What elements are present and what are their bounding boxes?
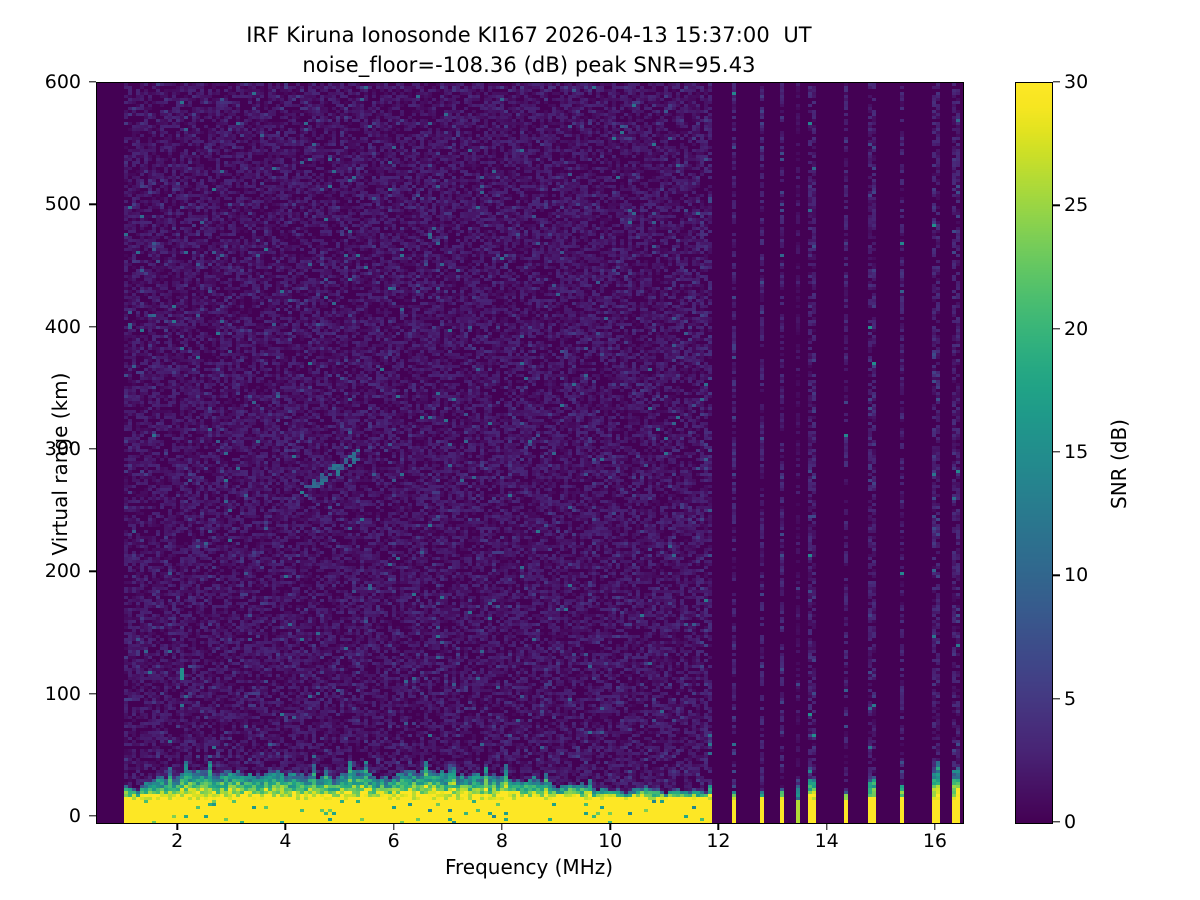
x-tick-label: 2 <box>171 830 183 852</box>
colorbar-tick-mark <box>1053 328 1060 329</box>
y-tick-mark <box>89 326 96 327</box>
y-tick-label: 400 <box>0 316 81 338</box>
x-tick-mark <box>826 823 827 830</box>
colorbar-tick-mark <box>1053 205 1060 206</box>
x-tick-mark <box>609 823 610 830</box>
colorbar-tick-mark <box>1053 821 1060 822</box>
y-tick-label: 200 <box>0 560 81 582</box>
x-tick-mark <box>718 823 719 830</box>
y-tick-mark <box>89 693 96 694</box>
y-tick-label: 600 <box>0 71 81 93</box>
y-tick-mark <box>89 81 96 82</box>
colorbar-tick-label: 30 <box>1064 71 1088 93</box>
x-tick-label: 16 <box>923 830 947 852</box>
x-tick-label: 12 <box>706 830 730 852</box>
colorbar-tick-label: 5 <box>1064 688 1076 710</box>
x-tick-mark <box>285 823 286 830</box>
colorbar-tick-mark <box>1053 575 1060 576</box>
x-axis-label: Frequency (MHz) <box>96 855 962 879</box>
colorbar-tick-mark <box>1053 698 1060 699</box>
colorbar-tick-label: 20 <box>1064 318 1088 340</box>
x-tick-mark <box>176 823 177 830</box>
y-tick-mark <box>89 448 96 449</box>
colorbar-label: SNR (dB) <box>1107 94 1131 834</box>
colorbar-tick-mark <box>1053 451 1060 452</box>
y-tick-label: 300 <box>0 438 81 460</box>
colorbar <box>1015 82 1053 824</box>
colorbar-tick-label: 10 <box>1064 564 1088 586</box>
y-tick-label: 500 <box>0 193 81 215</box>
colorbar-tick-label: 0 <box>1064 811 1076 833</box>
y-tick-label: 100 <box>0 683 81 705</box>
x-tick-label: 10 <box>598 830 622 852</box>
x-tick-mark <box>501 823 502 830</box>
colorbar-gradient <box>1016 83 1052 823</box>
plot-axes <box>96 82 964 824</box>
x-tick-mark <box>934 823 935 830</box>
colorbar-tick-mark <box>1053 81 1060 82</box>
y-tick-mark <box>89 571 96 572</box>
x-tick-label: 14 <box>815 830 839 852</box>
title-line-1: IRF Kiruna Ionosonde KI167 2026-04-13 15… <box>0 20 1058 50</box>
x-tick-label: 8 <box>496 830 508 852</box>
x-tick-label: 6 <box>388 830 400 852</box>
y-tick-label: 0 <box>0 805 81 827</box>
y-tick-mark <box>89 815 96 816</box>
ionogram-heatmap <box>97 83 963 823</box>
ionogram-figure: IRF Kiruna Ionosonde KI167 2026-04-13 15… <box>0 0 1200 900</box>
title-line-2: noise_floor=-108.36 (dB) peak SNR=95.43 <box>0 50 1058 80</box>
x-tick-label: 4 <box>279 830 291 852</box>
x-tick-mark <box>393 823 394 830</box>
colorbar-tick-label: 15 <box>1064 441 1088 463</box>
colorbar-tick-label: 25 <box>1064 194 1088 216</box>
y-tick-mark <box>89 204 96 205</box>
figure-title: IRF Kiruna Ionosonde KI167 2026-04-13 15… <box>0 20 1058 80</box>
